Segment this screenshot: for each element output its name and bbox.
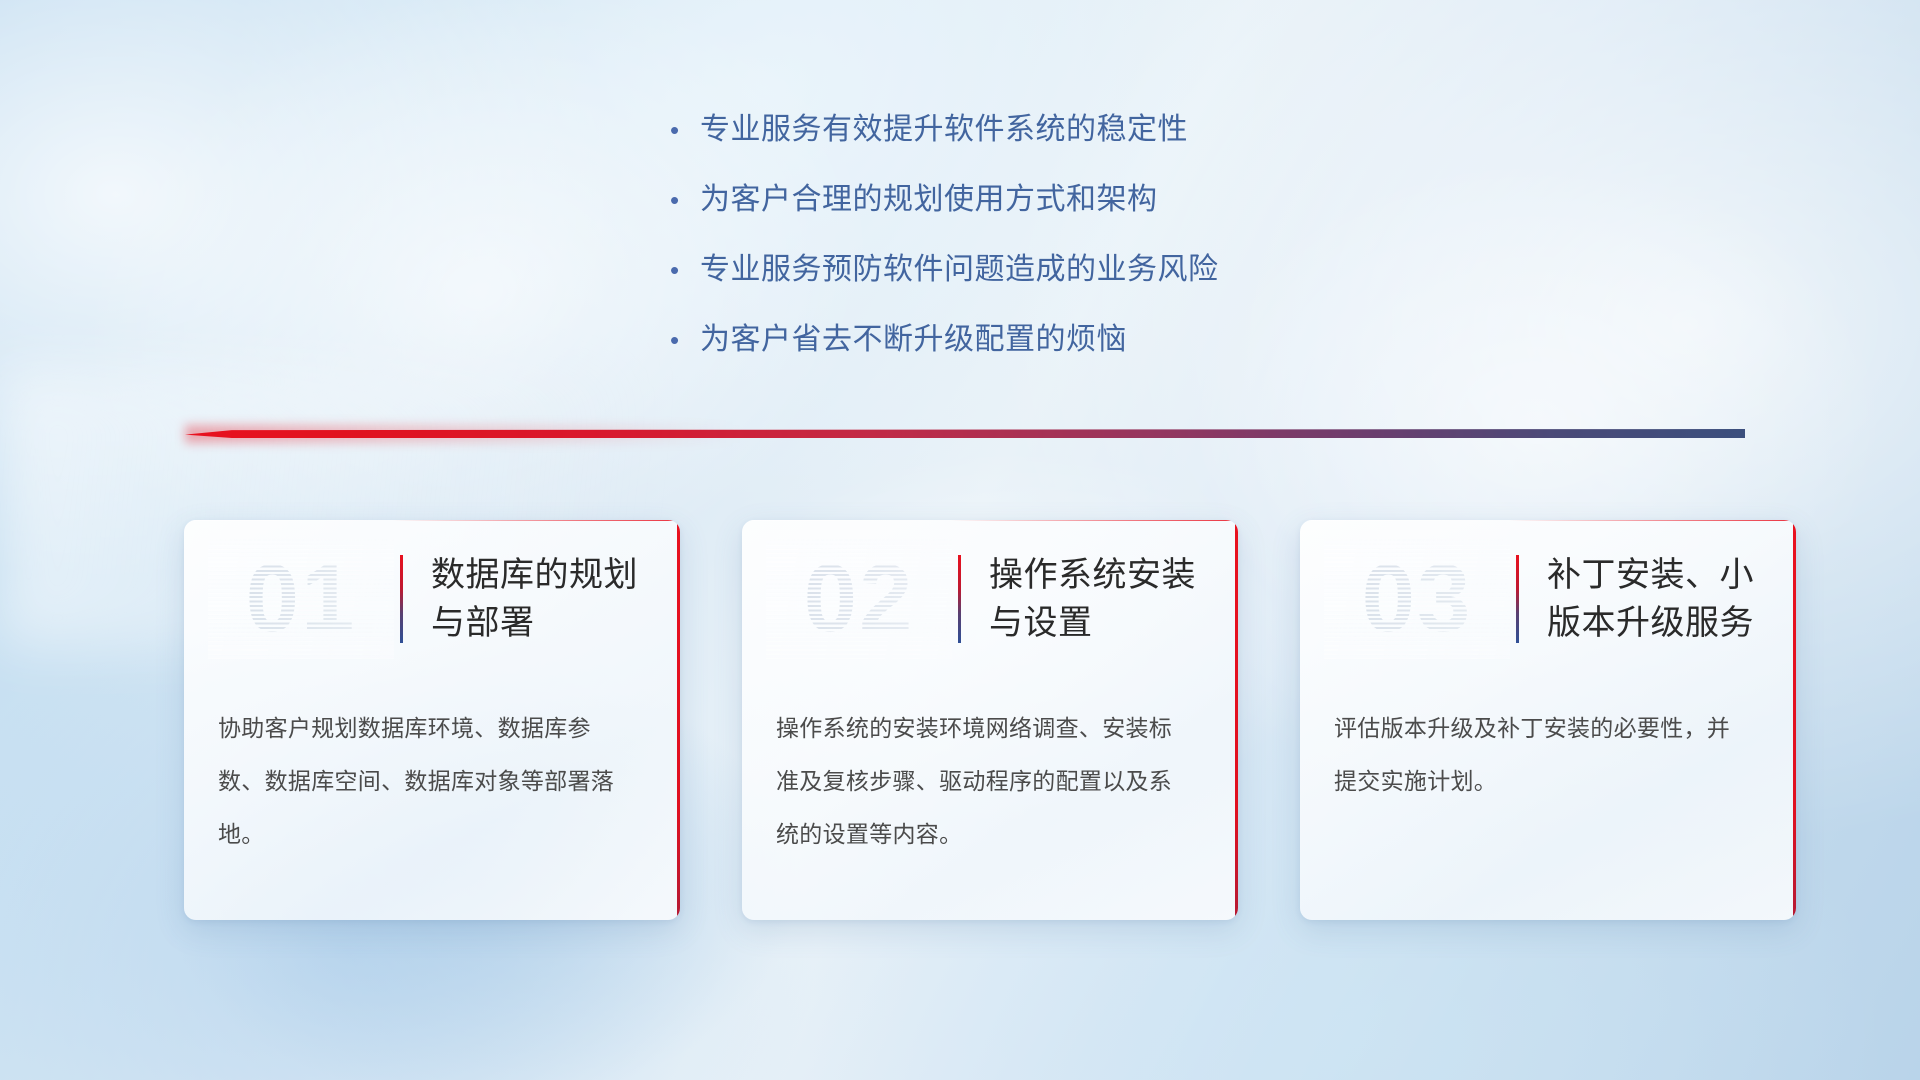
card-header: 03 补丁安装、小版本升级服务 — [1300, 520, 1796, 678]
card-title: 操作系统安装与设置 — [989, 551, 1212, 647]
list-item: • 专业服务有效提升软件系统的稳定性 — [670, 110, 1430, 150]
list-item: • 专业服务预防软件问题造成的业务风险 — [670, 250, 1430, 290]
benefit-text: 为客户省去不断升级配置的烦恼 — [700, 320, 1127, 360]
card-number-watermark: 03 — [1324, 539, 1510, 659]
card-description: 协助客户规划数据库环境、数据库参数、数据库空间、数据库对象等部署落地。 — [184, 678, 680, 861]
card-title-rule — [958, 555, 961, 643]
card-number-text: 02 — [804, 544, 915, 654]
card-number-watermark: 02 — [766, 539, 952, 659]
card-header: 02 操作系统安装与设置 — [742, 520, 1238, 678]
bullet-dot-icon: • — [670, 110, 700, 150]
benefit-text: 专业服务有效提升软件系统的稳定性 — [700, 110, 1188, 150]
bullet-dot-icon: • — [670, 320, 700, 360]
divider-line — [185, 429, 1745, 438]
card-title-rule — [1516, 555, 1519, 643]
service-card-01[interactable]: 01 数据库的规划与部署 协助客户规划数据库环境、数据库参数、数据库空间、数据库… — [184, 520, 680, 920]
card-description: 评估版本升级及补丁安装的必要性，并提交实施计划。 — [1300, 678, 1796, 808]
benefit-text: 专业服务预防软件问题造成的业务风险 — [700, 250, 1219, 290]
benefits-list: • 专业服务有效提升软件系统的稳定性 • 为客户合理的规划使用方式和架构 • 专… — [670, 110, 1430, 390]
card-title: 数据库的规划与部署 — [431, 551, 654, 647]
service-cards: 01 数据库的规划与部署 协助客户规划数据库环境、数据库参数、数据库空间、数据库… — [184, 520, 1796, 920]
benefit-text: 为客户合理的规划使用方式和架构 — [700, 180, 1158, 220]
service-card-03[interactable]: 03 补丁安装、小版本升级服务 评估版本升级及补丁安装的必要性，并提交实施计划。 — [1300, 520, 1796, 920]
card-number-text: 01 — [246, 544, 357, 654]
card-header: 01 数据库的规划与部署 — [184, 520, 680, 678]
card-title: 补丁安装、小版本升级服务 — [1547, 551, 1770, 647]
section-divider — [185, 425, 1745, 443]
bullet-dot-icon: • — [670, 180, 700, 220]
bullet-dot-icon: • — [670, 250, 700, 290]
card-number-watermark: 01 — [208, 539, 394, 659]
card-description: 操作系统的安装环境网络调查、安装标准及复核步骤、驱动程序的配置以及系统的设置等内… — [742, 678, 1238, 861]
card-number-text: 03 — [1362, 544, 1473, 654]
card-title-rule — [400, 555, 403, 643]
list-item: • 为客户省去不断升级配置的烦恼 — [670, 320, 1430, 360]
list-item: • 为客户合理的规划使用方式和架构 — [670, 180, 1430, 220]
service-card-02[interactable]: 02 操作系统安装与设置 操作系统的安装环境网络调查、安装标准及复核步骤、驱动程… — [742, 520, 1238, 920]
